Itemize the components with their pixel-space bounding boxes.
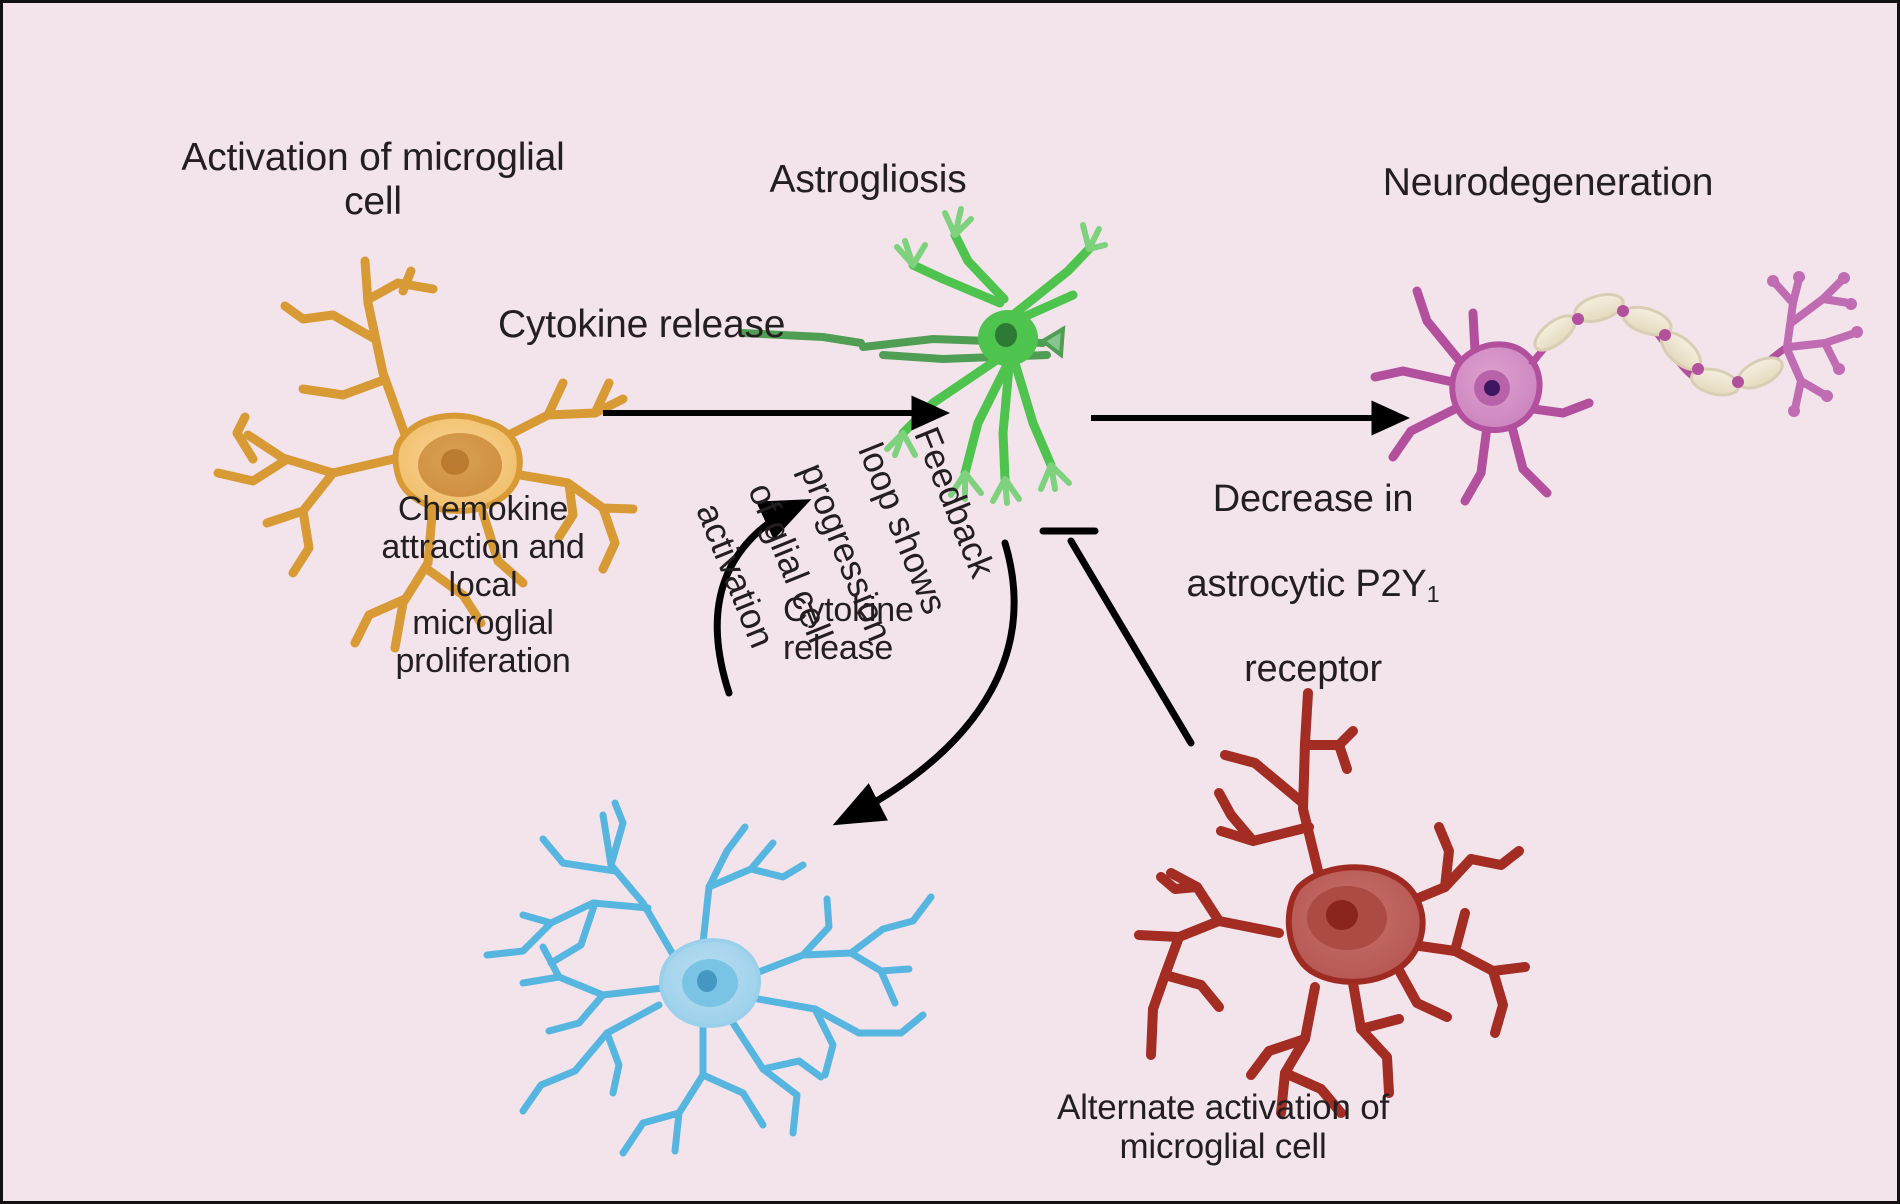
label-decrease-line3: receptor xyxy=(1244,648,1382,690)
diagram-canvas: Activation of microglial cell Astroglios… xyxy=(0,0,1900,1204)
label-activation-of-microglial-cell: Activation of microglial cell xyxy=(173,136,573,223)
ramified-microglial-cell xyxy=(487,803,931,1153)
label-cytokine-release-top: Cytokine release xyxy=(498,303,838,347)
alternately-activated-microglial-cell xyxy=(1139,693,1525,1113)
label-decrease-astrocytic-p2y1-receptor: Decrease in astrocytic P2Y1 receptor xyxy=(1143,435,1483,690)
label-decrease-subscript: 1 xyxy=(1427,581,1440,607)
label-chemokine-attraction: Chemokine attraction and local microglia… xyxy=(348,490,618,680)
label-alternate-activation-of-microglial-cell: Alternate activation of microglial cell xyxy=(1003,1088,1443,1166)
label-neurodegeneration: Neurodegeneration xyxy=(1333,161,1763,205)
label-decrease-line2: astrocytic P2Y xyxy=(1187,563,1427,605)
label-astrogliosis: Astrogliosis xyxy=(703,158,1033,202)
label-decrease-line1: Decrease in xyxy=(1213,478,1414,520)
